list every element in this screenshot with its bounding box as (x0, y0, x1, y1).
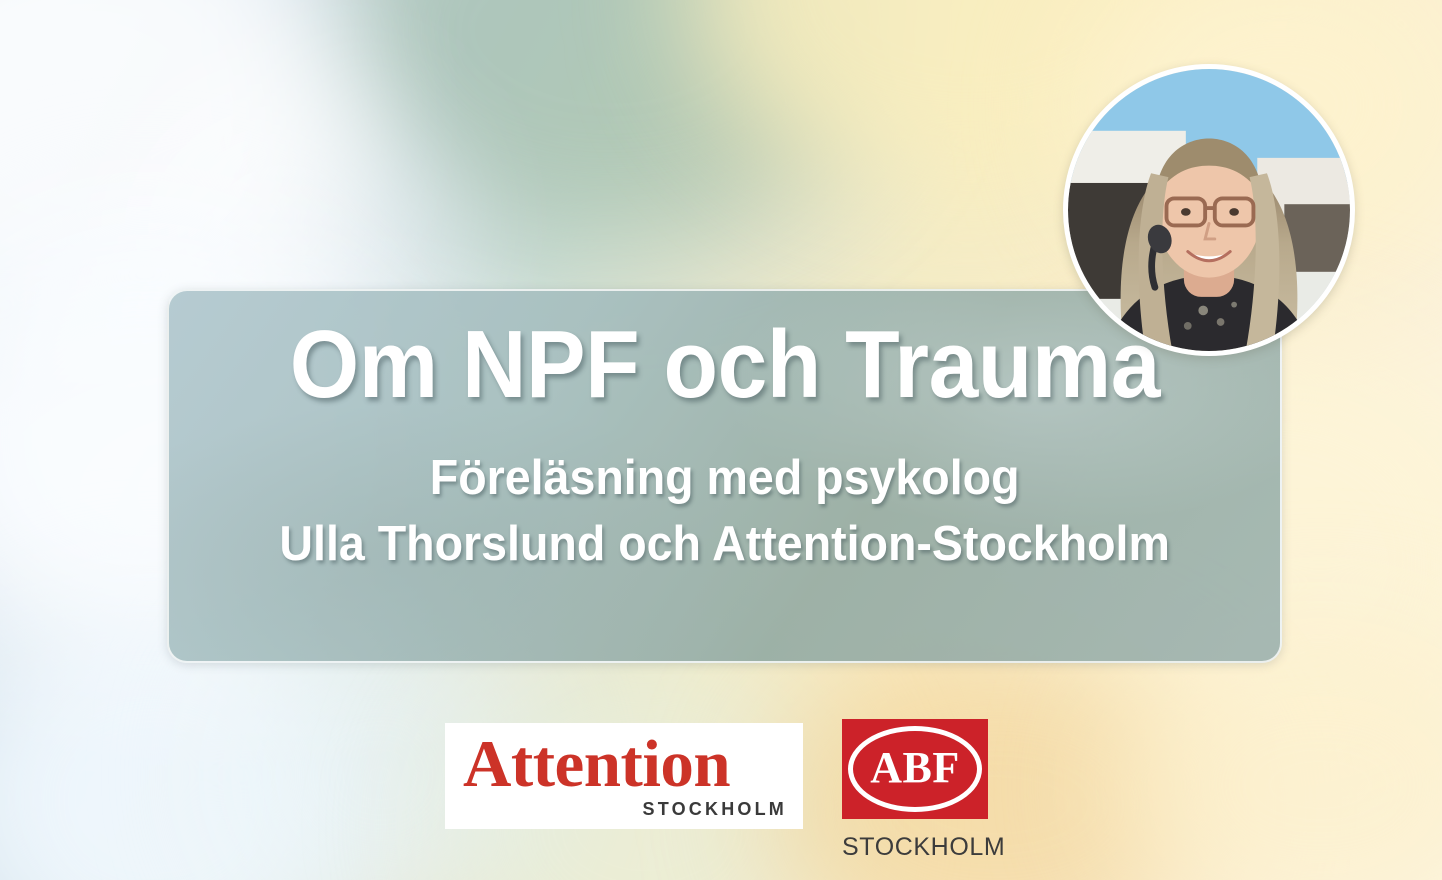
attention-logo: Attention STOCKHOLM (445, 723, 803, 829)
subtitle-line-1: Föreläsning med psykolog (279, 445, 1169, 512)
attention-sublabel: STOCKHOLM (643, 799, 787, 820)
logo-row: Attention STOCKHOLM ABF STOCKHOLM (0, 700, 1442, 880)
attention-wordmark: Attention (463, 732, 787, 796)
portrait-illustration (1068, 69, 1350, 351)
subtitle-line-2: Ulla Thorslund och Attention-Stockholm (279, 511, 1169, 578)
abf-wordmark: ABF (870, 746, 960, 790)
presentation-slide: Om NPF och Trauma Föreläsning med psykol… (0, 0, 1442, 880)
slide-title: Om NPF och Trauma (289, 315, 1159, 415)
abf-logo: ABF (842, 719, 988, 819)
abf-sublabel: STOCKHOLM (842, 833, 988, 862)
speaker-portrait (1063, 64, 1355, 356)
slide-subtitle: Föreläsning med psykolog Ulla Thorslund … (279, 445, 1169, 578)
title-card: Om NPF och Trauma Föreläsning med psykol… (167, 289, 1282, 663)
abf-oval-frame: ABF (848, 726, 982, 812)
